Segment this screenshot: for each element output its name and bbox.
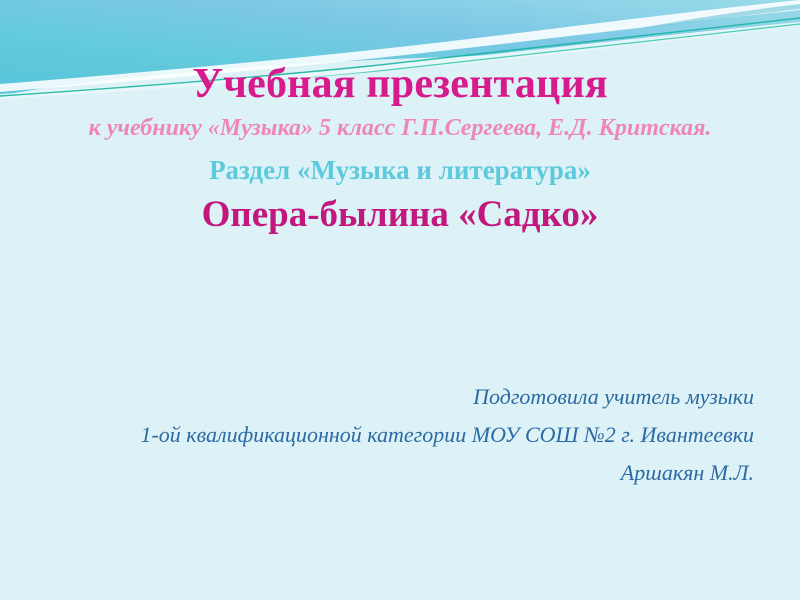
author-line-prepared-by: Подготовила учитель музыки bbox=[40, 378, 754, 416]
author-block: Подготовила учитель музыки 1-ой квалифик… bbox=[40, 378, 754, 491]
section-heading: Раздел «Музыка и литература» bbox=[40, 154, 760, 186]
slide-content: Учебная презентация к учебнику «Музыка» … bbox=[0, 0, 800, 600]
title-block: Учебная презентация к учебнику «Музыка» … bbox=[40, 62, 760, 237]
opera-heading: Опера-былина «Садко» bbox=[40, 194, 760, 237]
presentation-slide: Учебная презентация к учебнику «Музыка» … bbox=[0, 0, 800, 600]
author-line-name: Аршакян М.Л. bbox=[40, 454, 754, 492]
page-title: Учебная презентация bbox=[40, 62, 760, 106]
author-line-qualification: 1-ой квалификационной категории МОУ СОШ … bbox=[40, 416, 754, 454]
textbook-subtitle: к учебнику «Музыка» 5 класс Г.П.Сергеева… bbox=[40, 113, 760, 145]
